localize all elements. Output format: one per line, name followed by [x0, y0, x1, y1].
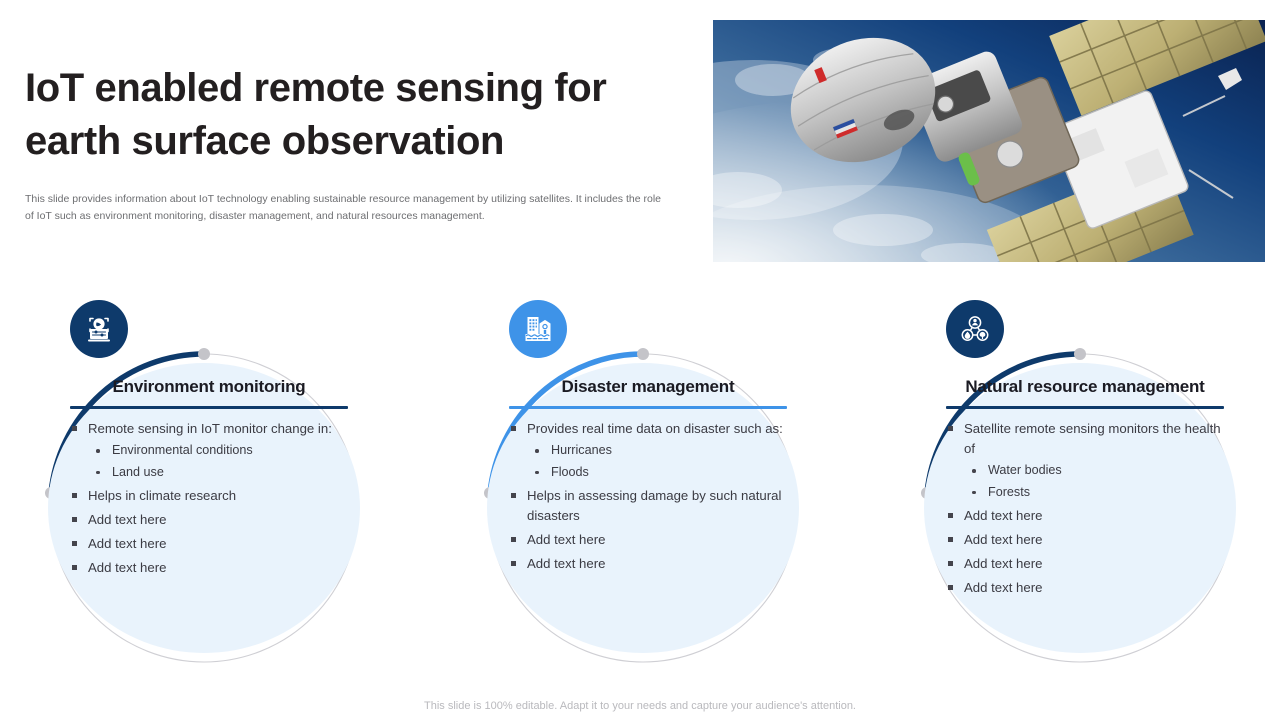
footer-note: This slide is 100% editable. Adapt it to… — [0, 700, 1280, 712]
satellite-photo-illustration — [713, 20, 1265, 262]
card-icon-badge-1 — [70, 300, 128, 358]
list-item: Helps in climate research — [68, 486, 354, 506]
card-disaster-management[interactable]: Disaster management Provides real time d… — [447, 278, 839, 668]
laptop-leaf-scan-icon — [82, 312, 116, 346]
sub-list: Water bodies Forests — [964, 461, 1230, 501]
cards-row: Environment monitoring Remote sensing in… — [0, 278, 1280, 668]
list-item: Add text here — [68, 534, 354, 554]
list-item: Remote sensing in IoT monitor change in:… — [68, 419, 354, 481]
card-body-3: Natural resource management Satellite re… — [940, 374, 1230, 602]
card-title-1: Environment monitoring — [64, 374, 354, 400]
flooded-buildings-icon — [521, 312, 555, 346]
card-icon-badge-3 — [946, 300, 1004, 358]
card-body-2: Disaster management Provides real time d… — [503, 374, 793, 578]
list-item: Add text here — [944, 554, 1230, 574]
list-item: Add text here — [507, 554, 793, 574]
sub-list-item: Water bodies — [964, 461, 1230, 480]
list-item: Add text here — [944, 530, 1230, 550]
slide-root: IoT enabled remote sensing for earth sur… — [0, 0, 1280, 720]
card-rule-3 — [946, 406, 1224, 409]
list-item: Add text here — [507, 530, 793, 550]
card-natural-resource-management[interactable]: Natural resource management Satellite re… — [884, 278, 1276, 668]
card-bullet-list-1: Remote sensing in IoT monitor change in:… — [68, 419, 354, 578]
sub-list-item: Land use — [88, 463, 354, 482]
card-bullet-list-2: Provides real time data on disaster such… — [507, 419, 793, 574]
bullet-text: Remote sensing in IoT monitor change in: — [88, 421, 332, 436]
card-environment-monitoring[interactable]: Environment monitoring Remote sensing in… — [8, 278, 400, 668]
card-title-2: Disaster management — [503, 374, 793, 400]
sub-list-item: Environmental conditions — [88, 441, 354, 460]
card-title-3: Natural resource management — [940, 374, 1230, 400]
list-item: Satellite remote sensing monitors the he… — [944, 419, 1230, 501]
list-item: Add text here — [68, 510, 354, 530]
sub-list-item: Forests — [964, 483, 1230, 502]
card-bullet-list-3: Satellite remote sensing monitors the he… — [944, 419, 1230, 598]
list-item: Provides real time data on disaster such… — [507, 419, 793, 481]
card-icon-badge-2 — [509, 300, 567, 358]
list-item: Add text here — [944, 506, 1230, 526]
card-body-1: Environment monitoring Remote sensing in… — [64, 374, 354, 582]
bullet-text: Provides real time data on disaster such… — [527, 421, 783, 436]
card-rule-2 — [509, 406, 787, 409]
sub-list: Hurricanes Floods — [527, 441, 793, 481]
list-item: Add text here — [944, 578, 1230, 598]
satellite-photo — [713, 20, 1265, 262]
bullet-text: Satellite remote sensing monitors the he… — [964, 421, 1221, 456]
resource-network-icon — [958, 312, 992, 346]
page-subtitle: This slide provides information about Io… — [25, 191, 665, 225]
sub-list: Environmental conditions Land use — [88, 441, 354, 481]
list-item: Helps in assessing damage by such natura… — [507, 486, 793, 526]
page-title: IoT enabled remote sensing for earth sur… — [25, 62, 705, 168]
list-item: Add text here — [68, 558, 354, 578]
sub-list-item: Floods — [527, 463, 793, 482]
sub-list-item: Hurricanes — [527, 441, 793, 460]
card-rule-1 — [70, 406, 348, 409]
